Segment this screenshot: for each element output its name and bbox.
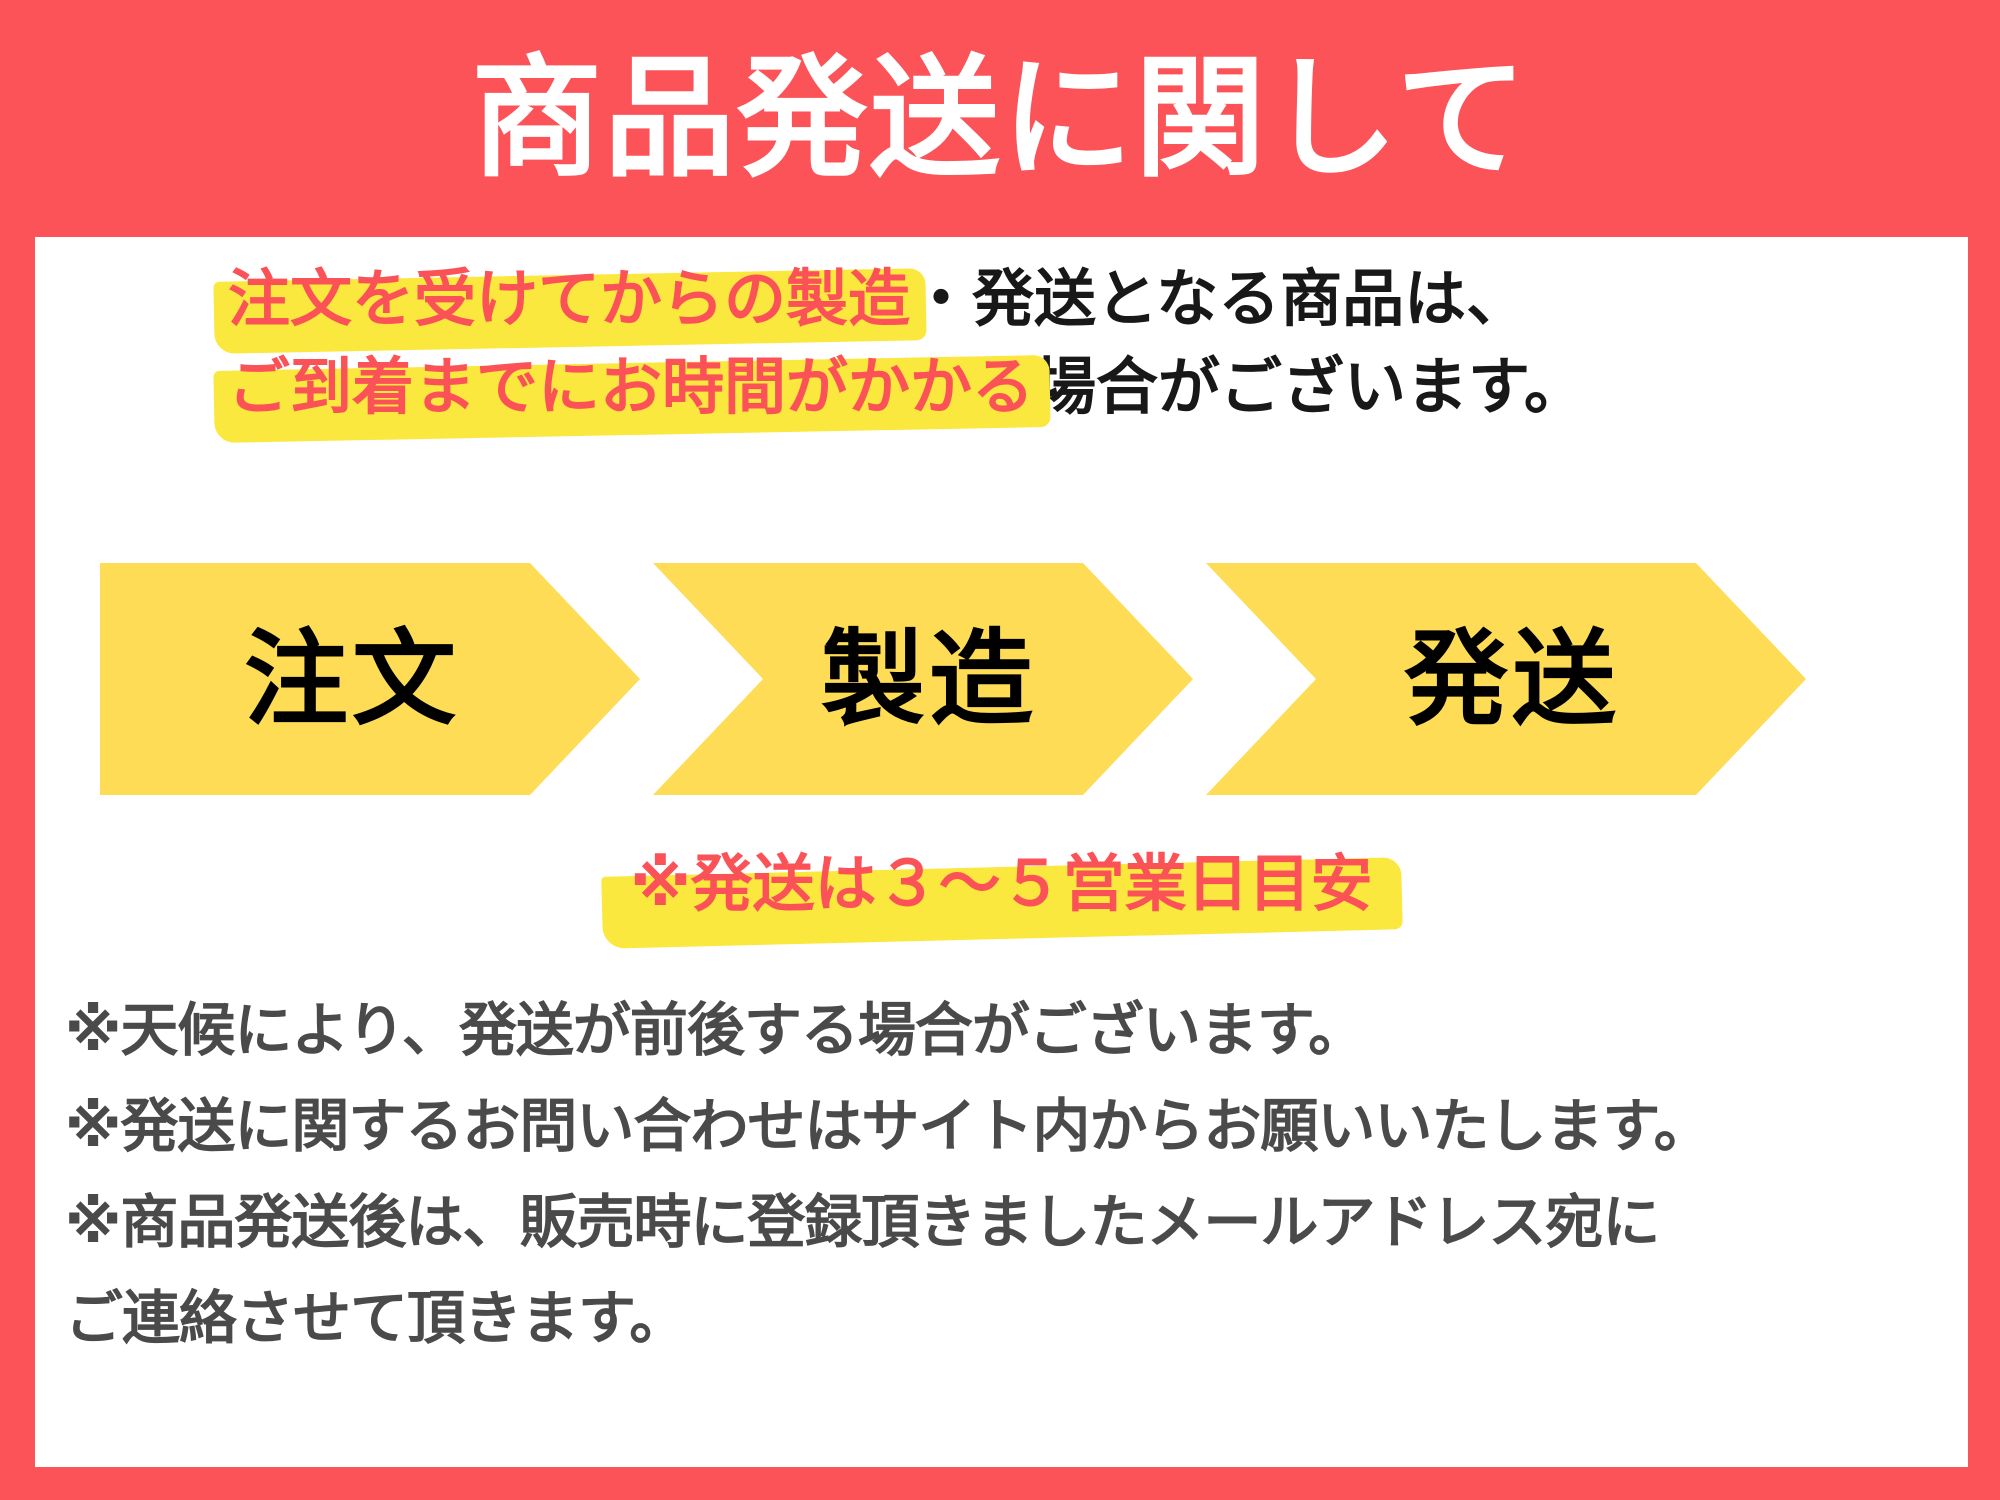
lead-line-1: 注文を受けてからの製造 ・発送となる商品は、: [35, 255, 1968, 343]
highlighted-estimate: ※発送は３～５営業日目安: [618, 841, 1384, 927]
flow-step-manufacture-label: 製造: [821, 627, 1037, 731]
title-banner: 商品発送に関して: [0, 0, 2000, 237]
page-title: 商品発送に関して: [471, 53, 1528, 185]
disclaimer-list: ※天候により、発送が前後する場合がございます。 ※発送に関するお問い合わせはサイ…: [65, 982, 1965, 1366]
lead-line-2: ご到着までにお時間がかかる 場合がございます。: [35, 343, 1968, 431]
content-card: 注文を受けてからの製造 ・発送となる商品は、 ご到着までにお時間がかかる 場合が…: [35, 237, 1968, 1467]
highlighted-phrase-1: 注文を受けてからの製造: [228, 255, 910, 343]
disclaimer-item-3: ※商品発送後は、販売時に登録頂きましたメールアドレス宛に: [65, 1174, 1965, 1270]
shipping-estimate-text: ※発送は３～５営業日目安: [630, 847, 1372, 920]
disclaimer-item-1: ※天候により、発送が前後する場合がございます。: [65, 982, 1965, 1078]
flow-step-manufacture: 製造: [653, 563, 1193, 795]
lead-line-1-highlight: 注文を受けてからの製造: [228, 262, 910, 335]
lead-line-2-highlight: ご到着までにお時間がかかる: [228, 350, 1034, 423]
lead-line-1-rest: ・発送となる商品は、: [910, 262, 1528, 335]
lead-paragraph: 注文を受けてからの製造 ・発送となる商品は、 ご到着までにお時間がかかる 場合が…: [35, 255, 1968, 431]
flow-diagram: 注文 製造 発送: [35, 563, 1968, 795]
flow-step-shipping: 発送: [1206, 563, 1806, 795]
disclaimer-item-2: ※発送に関するお問い合わせはサイト内からお願いいたします。: [65, 1078, 1965, 1174]
shipping-estimate-note: ※発送は３～５営業日目安: [35, 841, 1968, 927]
disclaimer-item-4: ご連絡させて頂きます。: [65, 1270, 1965, 1366]
flow-step-order: 注文: [100, 563, 640, 795]
shipping-info-poster: 商品発送に関して 注文を受けてからの製造 ・発送となる商品は、 ご到着までにお時…: [0, 0, 2000, 1500]
lead-line-2-rest: 場合がございます。: [1034, 350, 1586, 423]
flow-step-order-label: 注文: [244, 627, 460, 731]
highlighted-phrase-2: ご到着までにお時間がかかる: [228, 343, 1034, 431]
flow-step-shipping-label: 発送: [1404, 627, 1620, 731]
